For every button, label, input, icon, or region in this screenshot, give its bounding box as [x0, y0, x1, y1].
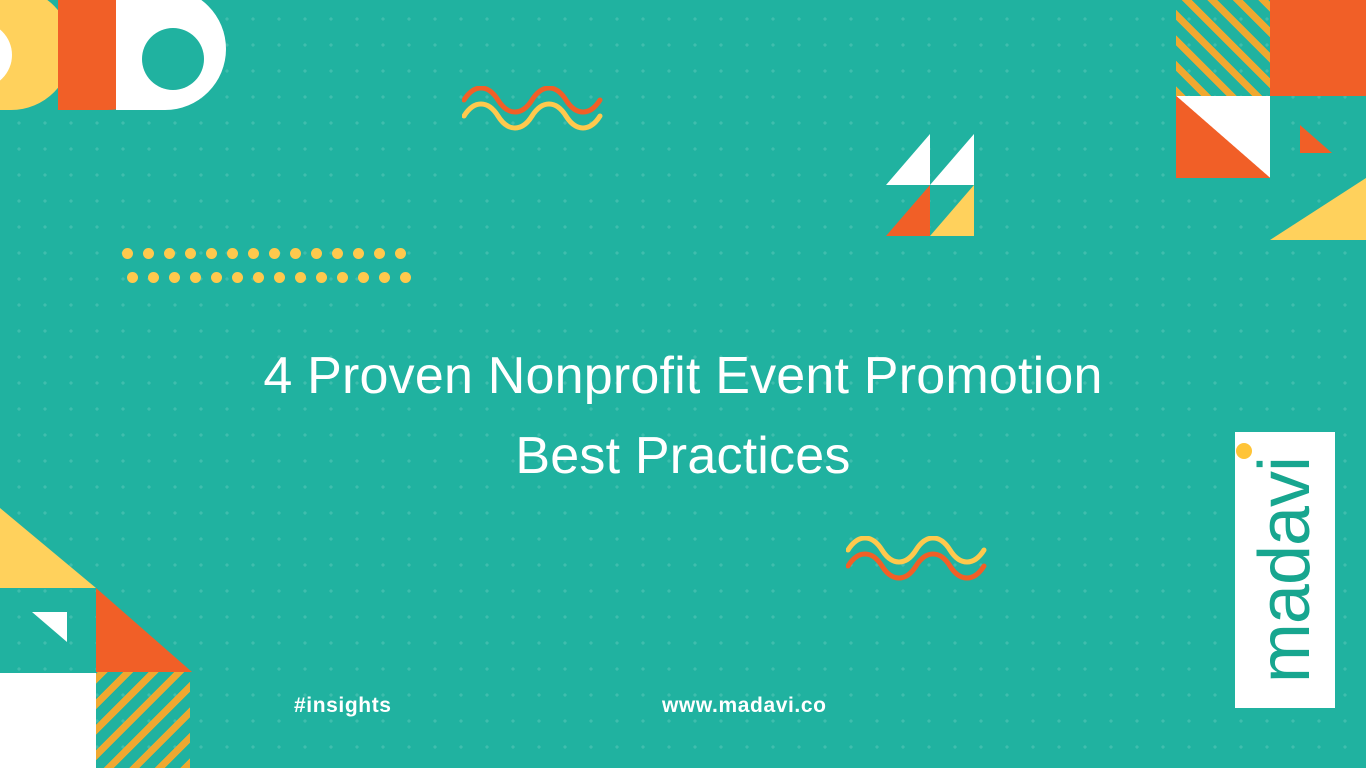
matrix-dot — [290, 248, 301, 259]
matrix-dot — [232, 272, 243, 283]
matrix-dot — [395, 248, 406, 259]
matrix-dot — [374, 248, 385, 259]
matrix-dot — [332, 248, 343, 259]
matrix-dot — [311, 248, 322, 259]
diagonal-stripes-top-right — [1176, 0, 1270, 96]
orange-triangle-bottom-left — [96, 588, 192, 672]
matrix-dot — [358, 272, 369, 283]
matrix-dot — [143, 248, 154, 259]
triangle-top-left — [886, 134, 930, 185]
teal-circle-icon — [142, 28, 204, 90]
matrix-dot — [248, 248, 259, 259]
matrix-dot — [190, 272, 201, 283]
triangle-bottom-left — [886, 185, 930, 236]
logo-panel[interactable]: madavi — [1235, 432, 1335, 708]
matrix-dot — [353, 248, 364, 259]
white-orange-triangle-block — [1176, 96, 1270, 178]
logo-wordmark: madavi — [1249, 457, 1321, 683]
matrix-dot — [211, 272, 222, 283]
title-line-2: Best Practices — [0, 416, 1366, 496]
yellow-dot-matrix — [122, 248, 416, 293]
page-title: 4 Proven Nonprofit Event Promotion Best … — [0, 336, 1366, 496]
triangle-bottom-right — [930, 185, 974, 236]
slide-canvas: 4 Proven Nonprofit Event Promotion Best … — [0, 0, 1366, 768]
matrix-dot — [148, 272, 159, 283]
matrix-dot — [169, 272, 180, 283]
matrix-dot — [274, 272, 285, 283]
white-square-bottom-left — [0, 673, 96, 768]
triangle-cluster — [886, 134, 974, 236]
small-white-triangle-icon — [32, 612, 67, 642]
yellow-triangle-top-right — [1270, 178, 1366, 240]
matrix-dot — [295, 272, 306, 283]
wave-lines-bottom — [846, 536, 992, 588]
matrix-dot — [227, 248, 238, 259]
triangle-top-right — [930, 134, 974, 185]
yellow-triangle-bottom-left — [0, 508, 96, 588]
wave-lines-top — [462, 86, 608, 138]
footer-hashtag: #insights — [294, 694, 392, 718]
small-orange-triangle-icon — [1300, 125, 1332, 153]
diagonal-stripes-bottom-left — [96, 672, 190, 768]
logo-accent-dot-icon — [1236, 443, 1252, 459]
logo-rotation-wrapper: madavi — [1240, 445, 1330, 695]
matrix-dot — [253, 272, 264, 283]
matrix-dot — [185, 248, 196, 259]
matrix-dot — [379, 272, 390, 283]
title-line-1: 4 Proven Nonprofit Event Promotion — [0, 336, 1366, 416]
matrix-dot — [122, 248, 133, 259]
matrix-dot — [164, 248, 175, 259]
matrix-dot — [127, 272, 138, 283]
matrix-dot — [206, 248, 217, 259]
matrix-dot — [316, 272, 327, 283]
matrix-dot — [337, 272, 348, 283]
orange-square-top-right — [1270, 0, 1366, 96]
footer-website[interactable]: www.madavi.co — [662, 694, 827, 718]
matrix-dot — [400, 272, 411, 283]
matrix-dot — [269, 248, 280, 259]
